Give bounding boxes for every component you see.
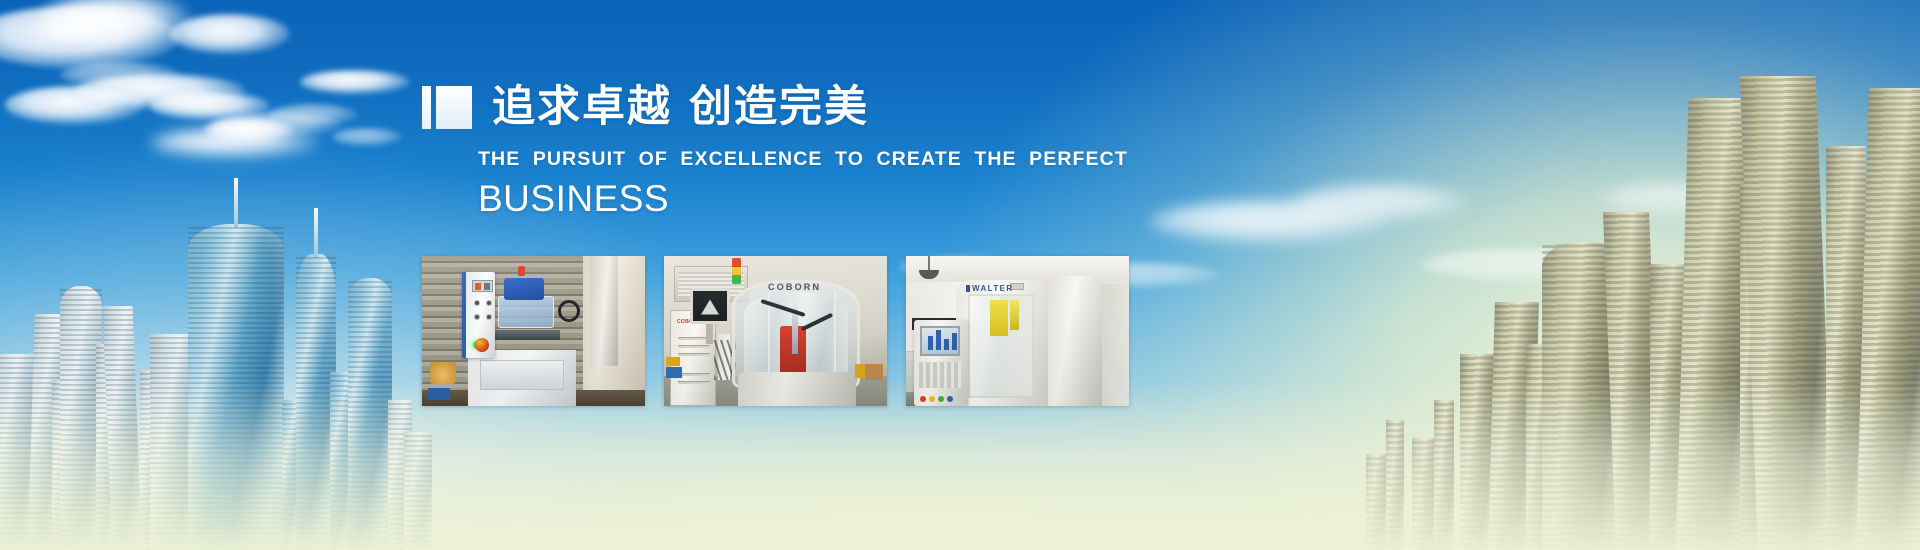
skyline-right xyxy=(1360,50,1920,550)
triangle-icon xyxy=(701,299,719,314)
logo-mark-icon xyxy=(422,86,472,129)
hmi-screen xyxy=(690,288,730,324)
machine-brand-label: COBORN xyxy=(768,282,887,292)
photo-1-scene xyxy=(422,256,645,406)
logo-block-icon xyxy=(436,86,472,129)
photo-walter-machine[interactable]: WALTER xyxy=(906,256,1129,406)
page-title: 追求卓越 创造完美 xyxy=(492,86,869,129)
skyline-left xyxy=(0,130,430,550)
keypad xyxy=(919,362,961,388)
cnc-display xyxy=(920,326,960,356)
banner-content: 追求卓越 创造完美 THE PURSUIT OF EXCELLENCE TO C… xyxy=(422,86,1142,220)
stack-light-icon xyxy=(732,258,741,284)
console-buttons xyxy=(920,396,953,402)
business-word: BUSINESS xyxy=(478,179,1142,220)
emergency-stop-icon xyxy=(475,338,489,352)
hero-banner: 追求卓越 创造完美 THE PURSUIT OF EXCELLENCE TO C… xyxy=(0,0,1920,550)
machine-brand-label: WALTER xyxy=(972,284,1014,293)
brand-dot-icon xyxy=(966,285,970,292)
photo-coborn-machine[interactable]: COBORN xyxy=(664,256,887,406)
operator-console xyxy=(914,320,968,406)
control-panel xyxy=(462,272,495,358)
photo-2-scene: COBORN xyxy=(664,256,887,406)
tagline-english: THE PURSUIT OF EXCELLENCE TO CREATE THE … xyxy=(478,148,1142,171)
logo-bar-icon xyxy=(422,86,431,129)
pendant-lamp-icon xyxy=(928,256,930,270)
headline-row: 追求卓越 创造完美 xyxy=(422,86,1142,129)
photo-strip: COBORN xyxy=(422,256,1129,406)
photo-3-scene: WALTER xyxy=(906,256,1129,406)
photo-edm-machine[interactable] xyxy=(422,256,645,406)
machine-brand-row: WALTER xyxy=(966,284,1046,293)
